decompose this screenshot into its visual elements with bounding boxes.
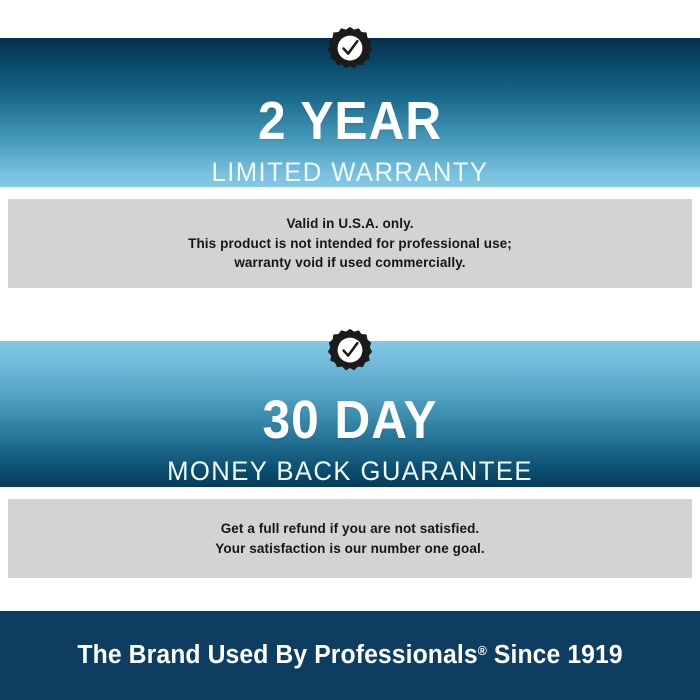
guarantee-note-text: Get a full refund if you are not satisfi…: [215, 519, 484, 559]
warranty-note: Valid in U.S.A. only. This product is no…: [8, 199, 692, 288]
warranty-banner-text: 2 YEAR LIMITED WARRANTY: [0, 94, 700, 186]
guarantee-banner-text: 30 DAY MONEY BACK GUARANTEE: [0, 393, 700, 485]
warranty-headline: 2 YEAR: [28, 94, 672, 148]
guarantee-headline: 30 DAY: [28, 393, 672, 447]
brand-tagline-main: The Brand Used By Professionals: [77, 641, 477, 669]
warranty-subline: LIMITED WARRANTY: [18, 159, 683, 186]
check-seal-icon: [327, 328, 373, 374]
warranty-note-text: Valid in U.S.A. only. This product is no…: [188, 214, 512, 274]
warranty-note-line-1: Valid in U.S.A. only.: [188, 214, 512, 234]
registered-trademark-icon: ®: [478, 643, 487, 658]
brand-tagline-year: Since 1919: [487, 641, 623, 669]
guarantee-note-line-1: Get a full refund if you are not satisfi…: [215, 519, 484, 539]
warranty-guarantee-graphic: 2 YEAR LIMITED WARRANTY Valid in U.S.A. …: [0, 0, 700, 700]
guarantee-subline: MONEY BACK GUARANTEE: [18, 458, 683, 485]
guarantee-note: Get a full refund if you are not satisfi…: [8, 499, 692, 578]
brand-tagline: The Brand Used By Professionals® Since 1…: [77, 641, 622, 670]
brand-footer: The Brand Used By Professionals® Since 1…: [0, 611, 700, 700]
warranty-note-line-3: warranty void if used commercially.: [188, 253, 512, 273]
check-seal-icon: [327, 26, 373, 72]
guarantee-note-line-2: Your satisfaction is our number one goal…: [215, 539, 484, 559]
warranty-note-line-2: This product is not intended for profess…: [188, 234, 512, 254]
